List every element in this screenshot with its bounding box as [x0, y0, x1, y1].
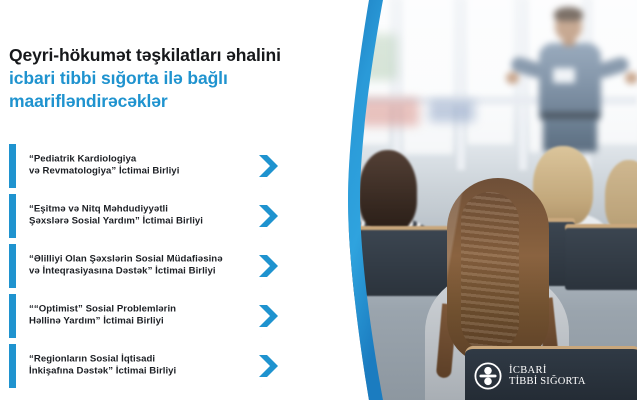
chevron-right-icon[interactable] — [255, 303, 281, 329]
organization-name-line-1: “Əlilliyi Olan Şəxslərin Sosial Müdafiəs… — [29, 254, 257, 266]
page-title: Qeyri-hökumət təşkilatları əhalini icbar… — [9, 44, 359, 113]
organization-name-line-1: “Regionların Sosial İqtisadi — [29, 354, 257, 366]
list-item[interactable]: “Regionların Sosial İqtisadi İnkişafına … — [9, 344, 299, 388]
organization-name-line-1: “Pediatrik Kardiologiya — [29, 154, 257, 166]
organization-name-line-1: “Eşitmə və Nitq Məhdudiyyətli — [29, 204, 257, 216]
chevron-right-icon[interactable] — [255, 253, 281, 279]
chevron-right-icon[interactable] — [255, 153, 281, 179]
banner: İCBARİ TİBBİ SIĞORTA Qeyri-hökumət təşki… — [0, 0, 637, 400]
card-accent-bar — [9, 144, 16, 188]
organization-name-line-2: Həllinə Yardım” İctimai Birliyi — [29, 316, 257, 328]
card-accent-bar — [9, 244, 16, 288]
organization-name: “Eşitmə və Nitq Məhdudiyyətli Şəxslərə S… — [29, 204, 257, 229]
organization-name-line-2: və Revmatologiya” İctimai Birliyi — [29, 166, 257, 178]
brand-logo: İCBARİ TİBBİ SIĞORTA — [474, 362, 586, 390]
brand-line-2: TİBBİ SIĞORTA — [509, 376, 586, 388]
organization-name: “Əlilliyi Olan Şəxslərin Sosial Müdafiəs… — [29, 254, 257, 279]
brand-wordmark: İCBARİ TİBBİ SIĞORTA — [509, 365, 586, 388]
list-item[interactable]: “Eşitmə və Nitq Məhdudiyyətli Şəxslərə S… — [9, 194, 299, 238]
organization-list: “Pediatrik Kardiologiya və Revmatologiya… — [9, 144, 299, 394]
organization-name: ““Optimist” Sosial Problemlərin Həllinə … — [29, 304, 257, 329]
chevron-right-icon[interactable] — [255, 203, 281, 229]
organization-name-line-2: və İnteqrasiyasına Dəstək” İctimai Birli… — [29, 266, 257, 278]
organization-name-line-2: İnkişafına Dəstək” İctimai Birliyi — [29, 366, 257, 378]
headline-line-3: maarifləndirəcəklər — [9, 90, 359, 113]
headline-line-2: icbari tibbi sığorta ilə bağlı — [9, 67, 359, 90]
list-item[interactable]: “Əlilliyi Olan Şəxslərin Sosial Müdafiəs… — [9, 244, 299, 288]
brand-line-1: İCBARİ — [509, 365, 586, 377]
headline-line-1: Qeyri-hökumət təşkilatları əhalini — [9, 44, 359, 67]
list-item[interactable]: “Pediatrik Kardiologiya və Revmatologiya… — [9, 144, 299, 188]
card-accent-bar — [9, 194, 16, 238]
circle-emblem-icon — [474, 362, 502, 390]
organization-name-line-1: ““Optimist” Sosial Problemlərin — [29, 304, 257, 316]
card-accent-bar — [9, 294, 16, 338]
chevron-right-icon[interactable] — [255, 353, 281, 379]
list-item[interactable]: ““Optimist” Sosial Problemlərin Həllinə … — [9, 294, 299, 338]
organization-name: “Pediatrik Kardiologiya və Revmatologiya… — [29, 154, 257, 179]
organization-name: “Regionların Sosial İqtisadi İnkişafına … — [29, 354, 257, 379]
organization-name-line-2: Şəxslərə Sosial Yardım” İctimai Birliyi — [29, 216, 257, 228]
card-accent-bar — [9, 344, 16, 388]
